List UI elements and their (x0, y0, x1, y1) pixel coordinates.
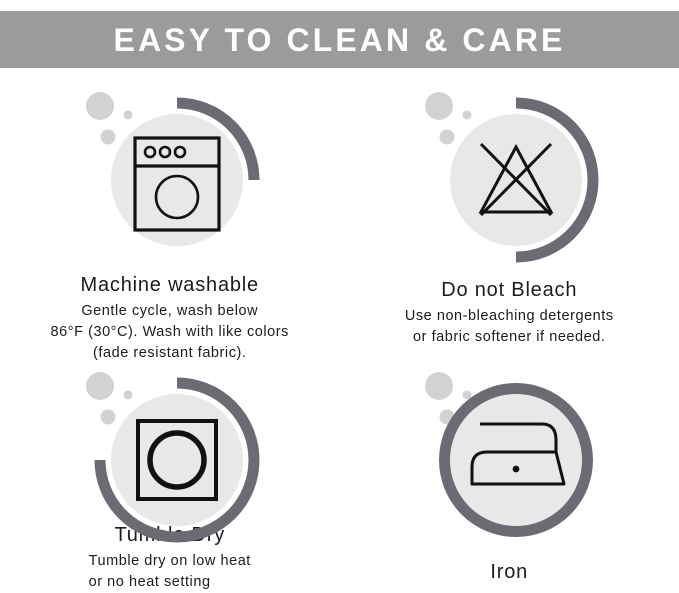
tumble-dry-icon (80, 366, 260, 546)
washing-machine-medallion (80, 86, 260, 261)
washing-machine-icon (80, 86, 260, 266)
care-card-do-not-bleach: Do not Bleach Use non-bleaching detergen… (340, 80, 679, 364)
bubble-small-icon (123, 391, 132, 400)
medallion-disc (111, 114, 243, 246)
do-not-bleach-icon (419, 86, 599, 266)
care-card-title: Machine washable (81, 273, 259, 297)
iron-icon (419, 366, 599, 546)
bubble-small-icon (463, 111, 472, 120)
page-title: EASY TO CLEAN & CARE (114, 24, 566, 56)
medallion-disc (450, 394, 582, 526)
care-card-description: Gentle cycle, wash below 86°F (30°C). Wa… (51, 301, 289, 364)
bubble-medium-icon (100, 410, 115, 425)
bubble-large-icon (86, 92, 114, 120)
care-card-machine-washable: Machine washable Gentle cycle, wash belo… (0, 80, 340, 364)
bubble-large-icon (86, 372, 114, 400)
care-card-description: Use non-bleaching detergents or fabric s… (405, 306, 614, 348)
care-card-title: Iron (490, 560, 528, 584)
bubble-medium-icon (100, 130, 115, 145)
bubble-small-icon (123, 111, 132, 120)
do-not-bleach-medallion (419, 86, 599, 266)
tumble-dry-medallion (80, 366, 260, 513)
header-banner: EASY TO CLEAN & CARE (0, 11, 679, 68)
bubble-medium-icon (440, 130, 455, 145)
iron-medallion (419, 366, 599, 546)
care-card-tumble-dry: Tumble Dry Tumble dry on low heat or no … (0, 364, 340, 593)
care-card-iron: Iron (340, 364, 679, 593)
medallion-disc (111, 394, 243, 526)
care-card-title: Do not Bleach (441, 278, 577, 302)
care-instructions-grid: Machine washable Gentle cycle, wash belo… (0, 80, 679, 593)
bubble-large-icon (425, 372, 453, 400)
iron-dot-glyph (513, 466, 520, 473)
care-card-description: Tumble dry on low heat or no heat settin… (89, 551, 251, 593)
bubble-large-icon (425, 92, 453, 120)
